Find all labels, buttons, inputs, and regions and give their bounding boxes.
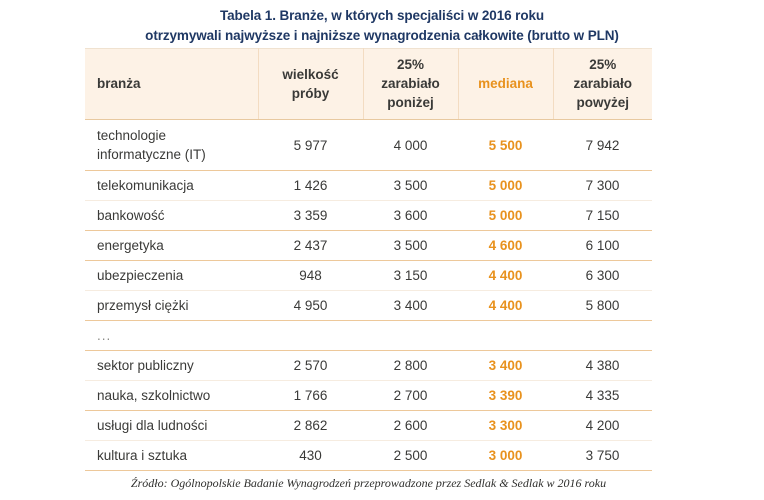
salary-table: branża wielkość próby 25% zarabiało poni… xyxy=(85,48,652,471)
table-row: ubezpieczenia9483 1504 4006 300 xyxy=(85,261,652,291)
column-header-25-powyzej-line3: powyżej xyxy=(576,95,629,110)
cell-wielkosc-proby: 4 950 xyxy=(258,291,363,321)
column-header-mediana-label: mediana xyxy=(478,76,533,91)
table-row: bankowość3 3593 6005 0007 150 xyxy=(85,201,652,231)
column-header-wielkosc-proby-line2: próby xyxy=(292,86,330,101)
cell-25-powyzej: 7 150 xyxy=(553,201,652,231)
table-header: branża wielkość próby 25% zarabiało poni… xyxy=(85,49,652,120)
cell-branza-line2: informatyczne (IT) xyxy=(97,147,206,162)
cell-25-ponizej: 2 600 xyxy=(363,411,458,441)
cell-25-powyzej: 6 100 xyxy=(553,231,652,261)
cell-mediana: 4 400 xyxy=(458,261,553,291)
cell-mediana: 4 400 xyxy=(458,291,553,321)
column-header-25-ponizej: 25% zarabiało poniżej xyxy=(363,49,458,120)
cell-25-powyzej: 5 800 xyxy=(553,291,652,321)
cell-branza: usługi dla ludności xyxy=(85,411,258,441)
cell-branza: nauka, szkolnictwo xyxy=(85,381,258,411)
table-row: nauka, szkolnictwo1 7662 7003 3904 335 xyxy=(85,381,652,411)
cell-mediana: 5 000 xyxy=(458,201,553,231)
column-header-wielkosc-proby-line1: wielkość xyxy=(282,67,338,82)
cell-branza: przemysł ciężki xyxy=(85,291,258,321)
column-header-25-ponizej-line3: poniżej xyxy=(387,95,434,110)
page-title: Tabela 1. Branże, w których specjaliści … xyxy=(0,0,764,46)
cell-25-ponizej: 2 800 xyxy=(363,351,458,381)
column-header-25-powyzej-line2: zarabiało xyxy=(573,76,632,91)
column-header-branza-label: branża xyxy=(97,76,141,91)
table-row: telekomunikacja1 4263 5005 0007 300 xyxy=(85,171,652,201)
table-row: energetyka2 4373 5004 6006 100 xyxy=(85,231,652,261)
cell-wielkosc-proby: 2 570 xyxy=(258,351,363,381)
cell-25-powyzej: 4 335 xyxy=(553,381,652,411)
cell-branza: ... xyxy=(85,321,258,351)
cell-25-ponizej: 3 500 xyxy=(363,171,458,201)
cell-25-powyzej: 7 942 xyxy=(553,120,652,171)
table-row: sektor publiczny2 5702 8003 4004 380 xyxy=(85,351,652,381)
cell-mediana: 5 000 xyxy=(458,171,553,201)
cell-branza: kultura i sztuka xyxy=(85,441,258,471)
cell-25-powyzej: 4 200 xyxy=(553,411,652,441)
table-body: technologieinformatyczne (IT)5 9774 0005… xyxy=(85,120,652,471)
cell-branza: energetyka xyxy=(85,231,258,261)
cell-branza-line1: technologie xyxy=(97,128,166,143)
title-line-2: otrzymywali najwyższe i najniższe wynagr… xyxy=(0,26,764,46)
cell-mediana xyxy=(458,321,553,351)
cell-25-powyzej: 3 750 xyxy=(553,441,652,471)
title-line-1: Tabela 1. Branże, w których specjaliści … xyxy=(0,6,764,26)
cell-mediana: 3 390 xyxy=(458,381,553,411)
column-header-25-ponizej-line2: zarabiało xyxy=(381,76,440,91)
cell-wielkosc-proby xyxy=(258,321,363,351)
table-header-row: branża wielkość próby 25% zarabiało poni… xyxy=(85,49,652,120)
page-root: Tabela 1. Branże, w których specjaliści … xyxy=(0,0,764,500)
cell-mediana: 3 400 xyxy=(458,351,553,381)
source-note: Źródło: Ogólnopolskie Badanie Wynagrodze… xyxy=(85,475,652,491)
cell-mediana: 5 500 xyxy=(458,120,553,171)
cell-mediana: 3 300 xyxy=(458,411,553,441)
cell-25-ponizej: 3 400 xyxy=(363,291,458,321)
cell-25-ponizej: 3 150 xyxy=(363,261,458,291)
cell-25-powyzej xyxy=(553,321,652,351)
cell-branza: telekomunikacja xyxy=(85,171,258,201)
column-header-25-powyzej-line1: 25% xyxy=(589,57,616,72)
cell-wielkosc-proby: 1 426 xyxy=(258,171,363,201)
table-row-ellipsis: ... xyxy=(85,321,652,351)
column-header-mediana: mediana xyxy=(458,49,553,120)
column-header-25-ponizej-line1: 25% xyxy=(397,57,424,72)
cell-wielkosc-proby: 3 359 xyxy=(258,201,363,231)
cell-branza: bankowość xyxy=(85,201,258,231)
cell-25-ponizej xyxy=(363,321,458,351)
cell-25-powyzej: 7 300 xyxy=(553,171,652,201)
cell-wielkosc-proby: 2 862 xyxy=(258,411,363,441)
column-header-branza: branża xyxy=(85,49,258,120)
cell-wielkosc-proby: 5 977 xyxy=(258,120,363,171)
cell-25-ponizej: 2 700 xyxy=(363,381,458,411)
cell-branza: sektor publiczny xyxy=(85,351,258,381)
cell-wielkosc-proby: 948 xyxy=(258,261,363,291)
column-header-wielkosc-proby: wielkość próby xyxy=(258,49,363,120)
cell-25-ponizej: 3 600 xyxy=(363,201,458,231)
table-row: usługi dla ludności2 8622 6003 3004 200 xyxy=(85,411,652,441)
cell-mediana: 3 000 xyxy=(458,441,553,471)
table-row: technologieinformatyczne (IT)5 9774 0005… xyxy=(85,120,652,171)
cell-25-ponizej: 3 500 xyxy=(363,231,458,261)
table-row: kultura i sztuka4302 5003 0003 750 xyxy=(85,441,652,471)
table-row: przemysł ciężki4 9503 4004 4005 800 xyxy=(85,291,652,321)
cell-mediana: 4 600 xyxy=(458,231,553,261)
salary-table-container: branża wielkość próby 25% zarabiało poni… xyxy=(85,48,652,471)
cell-25-powyzej: 4 380 xyxy=(553,351,652,381)
cell-25-ponizej: 2 500 xyxy=(363,441,458,471)
cell-wielkosc-proby: 1 766 xyxy=(258,381,363,411)
cell-25-powyzej: 6 300 xyxy=(553,261,652,291)
column-header-25-powyzej: 25% zarabiało powyżej xyxy=(553,49,652,120)
cell-branza: technologieinformatyczne (IT) xyxy=(85,120,258,171)
cell-branza: ubezpieczenia xyxy=(85,261,258,291)
cell-wielkosc-proby: 2 437 xyxy=(258,231,363,261)
cell-25-ponizej: 4 000 xyxy=(363,120,458,171)
cell-wielkosc-proby: 430 xyxy=(258,441,363,471)
